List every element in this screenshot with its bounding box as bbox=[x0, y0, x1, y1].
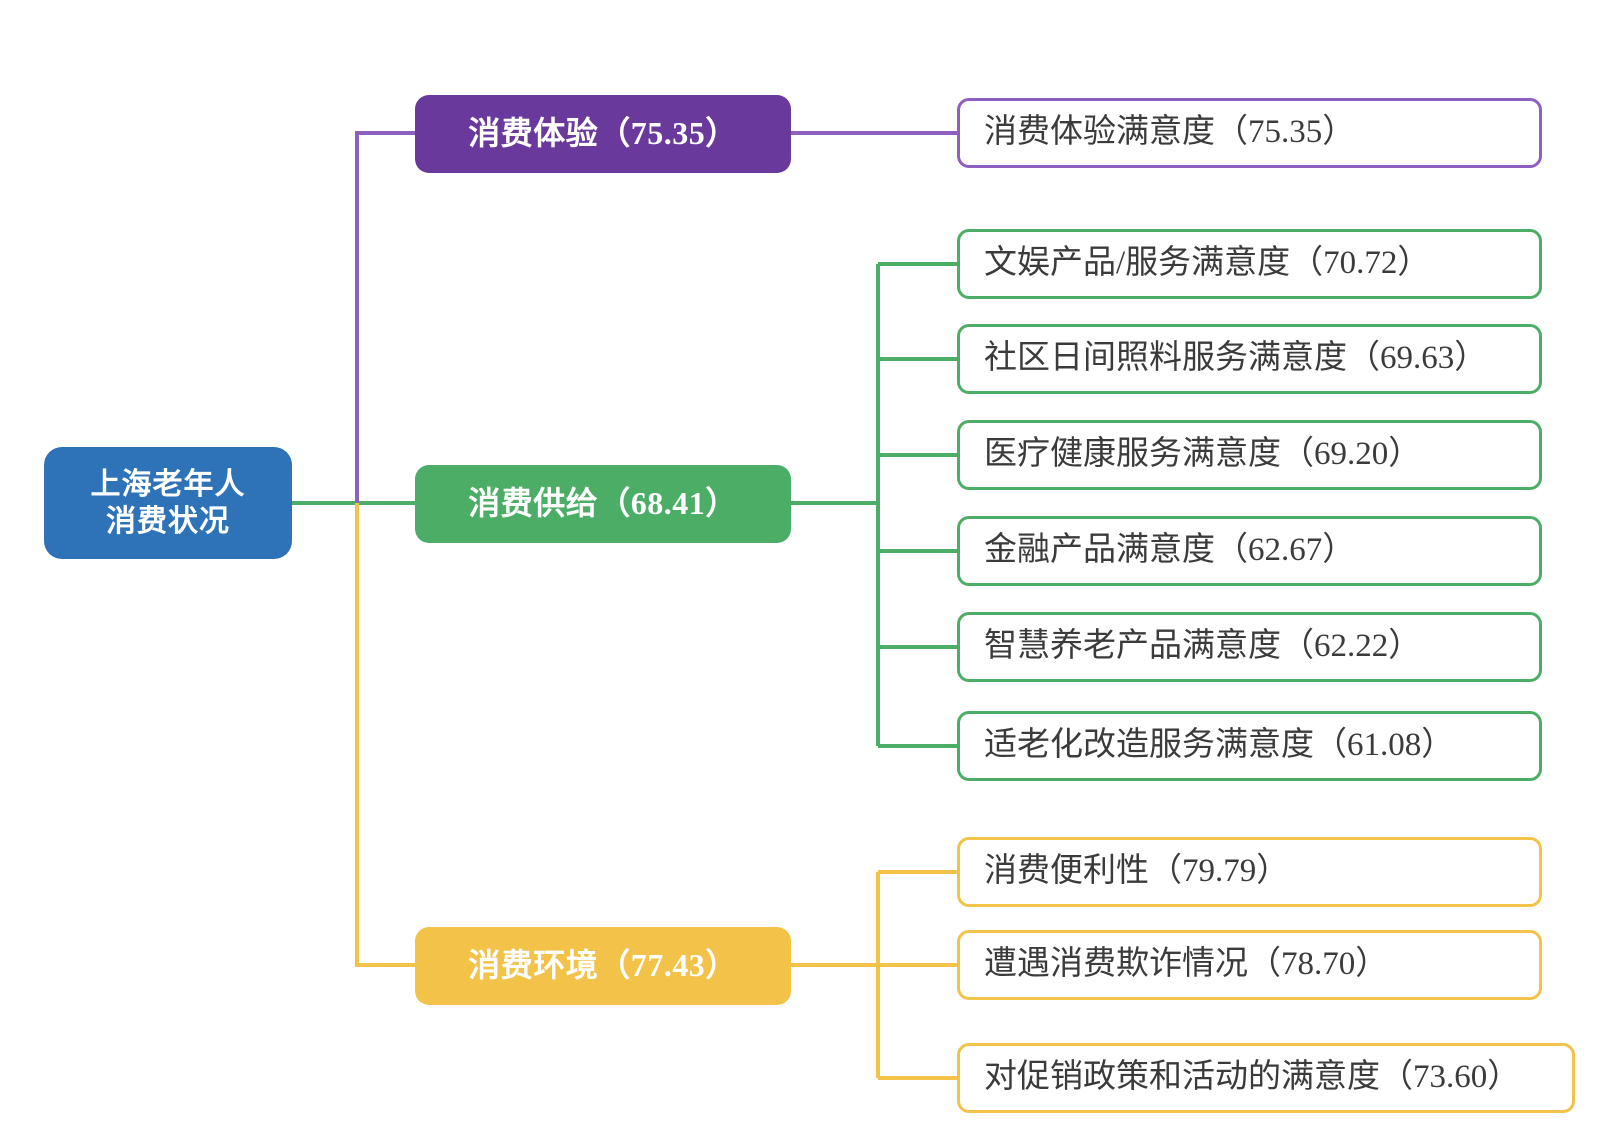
link-root-to-environment bbox=[357, 503, 415, 965]
root-node-label-line1: 上海老年人 bbox=[91, 466, 246, 503]
leaf-node-environment-1-label: 遭遇消费欺诈情况（78.70） bbox=[984, 945, 1388, 985]
leaf-node-supply-0[interactable]: 文娱产品/服务满意度（70.72） bbox=[957, 229, 1542, 299]
root-node[interactable]: 上海老年人 消费状况 bbox=[44, 447, 292, 559]
leaf-node-supply-3-label: 金融产品满意度（62.67） bbox=[984, 531, 1355, 571]
leaf-node-experience-0[interactable]: 消费体验满意度（75.35） bbox=[957, 98, 1542, 168]
branch-node-experience-label: 消费体验（75.35） bbox=[468, 114, 738, 154]
leaf-node-supply-5[interactable]: 适老化改造服务满意度（61.08） bbox=[957, 711, 1542, 781]
branch-node-environment-label: 消费环境（77.43） bbox=[468, 946, 738, 986]
mind-map-canvas: 上海老年人 消费状况 消费体验（75.35） 消费供给（68.41） 消费环境（… bbox=[0, 0, 1604, 1142]
leaf-node-supply-0-label: 文娱产品/服务满意度（70.72） bbox=[984, 244, 1430, 284]
leaf-node-environment-2-label: 对促销政策和活动的满意度（73.60） bbox=[984, 1058, 1520, 1098]
branch-node-environment[interactable]: 消费环境（77.43） bbox=[415, 927, 791, 1005]
leaf-node-supply-1-label: 社区日间照料服务满意度（69.63） bbox=[984, 339, 1487, 379]
branch-node-supply[interactable]: 消费供给（68.41） bbox=[415, 465, 791, 543]
leaf-node-environment-2[interactable]: 对促销政策和活动的满意度（73.60） bbox=[957, 1043, 1575, 1113]
link-root-to-experience bbox=[357, 133, 415, 503]
leaf-node-supply-1[interactable]: 社区日间照料服务满意度（69.63） bbox=[957, 324, 1542, 394]
leaf-node-supply-4[interactable]: 智慧养老产品满意度（62.22） bbox=[957, 612, 1542, 682]
root-node-label-line2: 消费状况 bbox=[91, 503, 246, 540]
branch-node-experience[interactable]: 消费体验（75.35） bbox=[415, 95, 791, 173]
leaf-node-environment-1[interactable]: 遭遇消费欺诈情况（78.70） bbox=[957, 930, 1542, 1000]
leaf-node-experience-0-label: 消费体验满意度（75.35） bbox=[984, 113, 1355, 153]
leaf-node-environment-0-label: 消费便利性（79.79） bbox=[984, 852, 1289, 892]
leaf-node-supply-2[interactable]: 医疗健康服务满意度（69.20） bbox=[957, 420, 1542, 490]
branch-node-supply-label: 消费供给（68.41） bbox=[468, 484, 738, 524]
leaf-node-supply-4-label: 智慧养老产品满意度（62.22） bbox=[984, 627, 1421, 667]
leaf-node-supply-3[interactable]: 金融产品满意度（62.67） bbox=[957, 516, 1542, 586]
root-node-label: 上海老年人 消费状况 bbox=[91, 466, 246, 540]
leaf-node-environment-0[interactable]: 消费便利性（79.79） bbox=[957, 837, 1542, 907]
leaf-node-supply-5-label: 适老化改造服务满意度（61.08） bbox=[984, 726, 1454, 766]
leaf-node-supply-2-label: 医疗健康服务满意度（69.20） bbox=[984, 435, 1421, 475]
